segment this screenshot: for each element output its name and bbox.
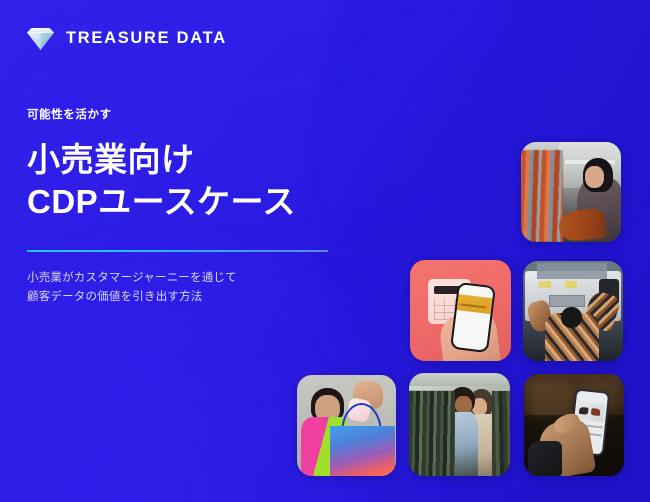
photo-card-hand-holding-phone-shopping-app — [524, 374, 624, 476]
photo-card-contactless-mobile-payment — [410, 260, 511, 361]
photo-card-two-women-browsing-rack — [409, 373, 510, 476]
slide-canvas: TREASURE DATA 可能性を活かす 小売業向け CDPユースケース 小売… — [0, 0, 650, 502]
photo-collage — [0, 0, 650, 502]
photo-card-woman-holding-shopping-bag — [297, 375, 396, 476]
photo-card-warehouse-worker-equipment — [523, 261, 623, 361]
photo-card-woman-shopping-clothing-rack — [521, 142, 621, 242]
